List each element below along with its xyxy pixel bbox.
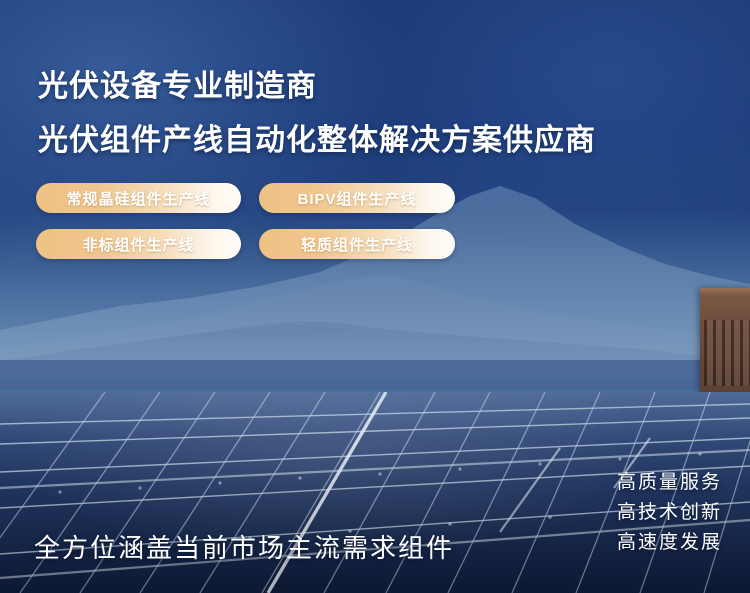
bottom-tagline: 全方位涵盖当前市场主流需求组件 xyxy=(34,528,454,565)
pill-row-2: 非标组件生产线 轻质组件生产线 xyxy=(36,229,455,259)
pill-lightweight[interactable]: 轻质组件生产线 xyxy=(259,229,455,259)
feature-item-quality: 高质量服务 xyxy=(617,468,722,498)
pill-conventional-silicon[interactable]: 常规晶硅组件生产线 xyxy=(36,183,241,213)
feature-list: 高质量服务 高技术创新 高速度发展 xyxy=(617,468,722,558)
feature-item-growth: 高速度发展 xyxy=(617,528,722,558)
pill-non-standard[interactable]: 非标组件生产线 xyxy=(36,229,241,259)
pill-bipv[interactable]: BIPV组件生产线 xyxy=(259,183,455,213)
headline-block: 光伏设备专业制造商 光伏组件产线自动化整体解决方案供应商 xyxy=(38,72,596,156)
feature-item-innovation: 高技术创新 xyxy=(617,498,722,528)
pill-row-1: 常规晶硅组件生产线 BIPV组件生产线 xyxy=(36,183,455,213)
brick-structure-cap xyxy=(700,288,750,298)
headline-line-1: 光伏设备专业制造商 xyxy=(38,72,596,102)
solar-hero-banner: 光伏设备专业制造商 光伏组件产线自动化整体解决方案供应商 常规晶硅组件生产线 B… xyxy=(0,0,750,593)
product-line-pills: 常规晶硅组件生产线 BIPV组件生产线 非标组件生产线 轻质组件生产线 xyxy=(36,183,455,275)
headline-line-2: 光伏组件产线自动化整体解决方案供应商 xyxy=(38,126,596,156)
